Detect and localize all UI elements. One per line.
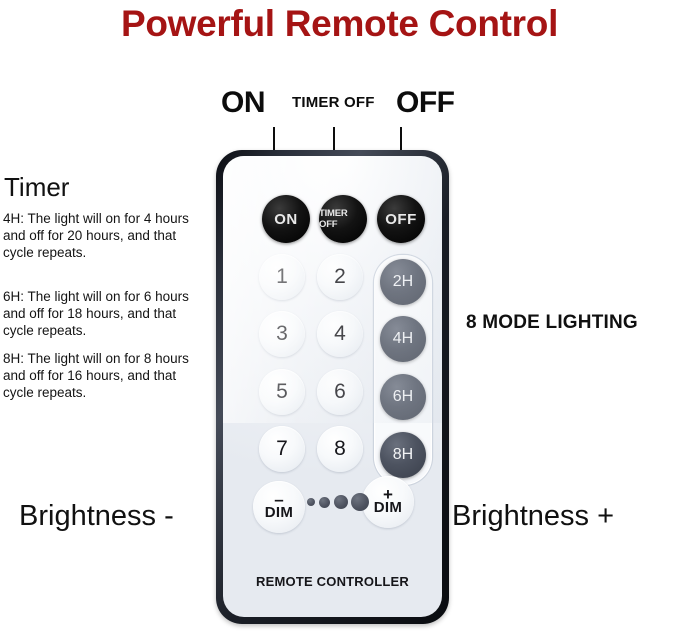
callout-label-timer-off: TIMER OFF [292, 95, 375, 110]
label-8-mode-lighting: 8 MODE LIGHTING [466, 312, 638, 334]
remote-button-8[interactable]: 8 [317, 426, 363, 472]
brightness-dot-1 [307, 498, 315, 506]
remote-face-panel: ON TIMER OFF OFF 1 2 3 4 5 6 7 8 2H 4H 6… [223, 156, 442, 617]
remote-button-4h[interactable]: 4H [380, 316, 426, 362]
remote-button-dim-plus[interactable]: + DIM [362, 476, 414, 528]
remote-button-2[interactable]: 2 [317, 254, 363, 300]
minus-icon: – [274, 494, 283, 505]
remote-button-on[interactable]: ON [262, 195, 310, 243]
remote-button-3[interactable]: 3 [259, 311, 305, 357]
remote-button-off[interactable]: OFF [377, 195, 425, 243]
timer-heading: Timer [4, 172, 69, 202]
remote-button-1[interactable]: 1 [259, 254, 305, 300]
brightness-dot-2 [319, 497, 330, 508]
remote-control-device: ON TIMER OFF OFF 1 2 3 4 5 6 7 8 2H 4H 6… [216, 150, 449, 624]
plus-icon: + [383, 489, 393, 500]
remote-button-2h[interactable]: 2H [380, 259, 426, 305]
label-brightness-plus: Brightness + [452, 500, 614, 533]
remote-button-6h[interactable]: 6H [380, 374, 426, 420]
callout-label-on: ON [221, 88, 265, 118]
remote-button-8h[interactable]: 8H [380, 432, 426, 478]
remote-button-7[interactable]: 7 [259, 426, 305, 472]
remote-button-4[interactable]: 4 [317, 311, 363, 357]
brightness-dot-3 [334, 495, 348, 509]
remote-button-timer-off[interactable]: TIMER OFF [319, 195, 367, 243]
dim-plus-label: DIM [374, 500, 402, 516]
page-title: Powerful Remote Control [0, 2, 679, 46]
brightness-level-indicator [307, 490, 367, 514]
timer-description-6h: 6H: The light will on for 6 hours and of… [3, 288, 209, 339]
brightness-dot-4 [351, 493, 369, 511]
label-brightness-minus: Brightness - [19, 500, 174, 533]
remote-button-6[interactable]: 6 [317, 369, 363, 415]
remote-button-dim-minus[interactable]: – DIM [253, 481, 305, 533]
remote-button-5[interactable]: 5 [259, 369, 305, 415]
timer-description-4h: 4H: The light will on for 4 hours and of… [3, 210, 209, 261]
dim-minus-label: DIM [265, 505, 293, 521]
timer-description-8h: 8H: The light will on for 8 hours and of… [3, 350, 209, 401]
remote-footer-text: REMOTE CONTROLLER [223, 574, 442, 589]
timer-hour-button-group: 2H 4H 6H 8H [374, 255, 432, 485]
callout-label-off: OFF [396, 88, 455, 118]
